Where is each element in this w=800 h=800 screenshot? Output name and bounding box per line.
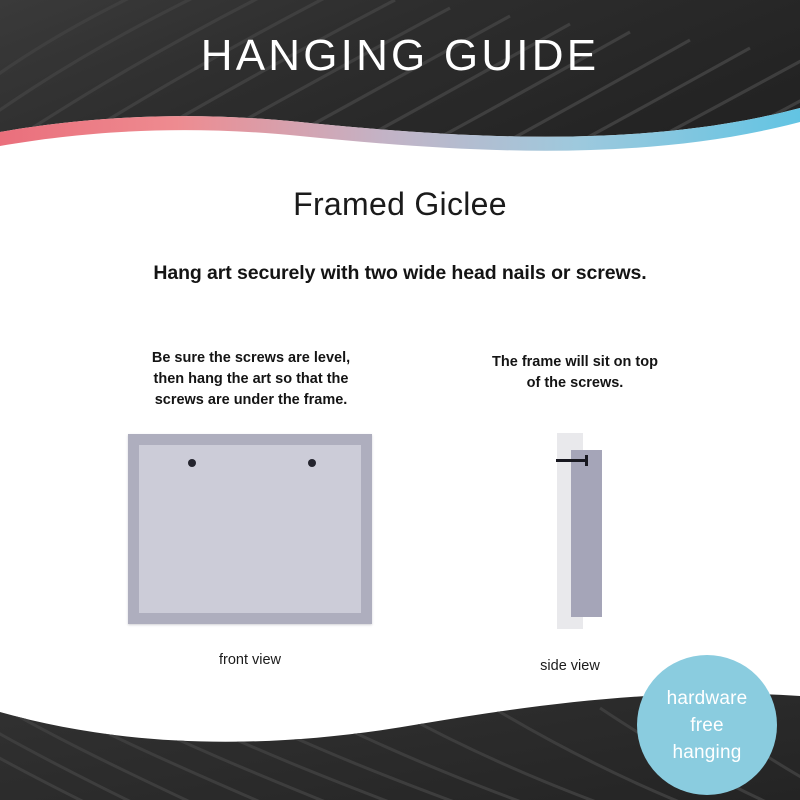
side-view-screw-head-icon bbox=[585, 455, 588, 466]
front-view-caption: Be sure the screws are level, then hang … bbox=[128, 348, 374, 411]
badge-line-3: hanging bbox=[667, 739, 748, 766]
side-view-frame bbox=[571, 450, 602, 617]
side-view-screw-shank-icon bbox=[556, 459, 588, 462]
side-view-caption-line-1: The frame will sit on top bbox=[455, 352, 695, 373]
badge-line-1: hardware bbox=[667, 685, 748, 712]
front-view-screw-left-icon bbox=[188, 459, 196, 467]
front-view-caption-line-1: Be sure the screws are level, bbox=[128, 348, 374, 369]
hardware-free-hanging-badge: hardware free hanging bbox=[637, 655, 777, 795]
page-title: HANGING GUIDE bbox=[0, 31, 800, 81]
side-view-caption-line-2: of the screws. bbox=[455, 373, 695, 394]
front-view-caption-line-3: screws are under the frame. bbox=[128, 390, 374, 411]
front-view-screw-right-icon bbox=[308, 459, 316, 467]
hanging-guide-page: HANGING GUIDE Framed Giclee Hang art sec… bbox=[0, 0, 800, 800]
header-wave-graphic bbox=[0, 0, 800, 165]
front-view-caption-line-2: then hang the art so that the bbox=[128, 369, 374, 390]
badge-line-2: free bbox=[667, 712, 748, 739]
header-banner: HANGING GUIDE bbox=[0, 0, 800, 165]
front-view-frame-interior bbox=[139, 445, 361, 613]
side-view-caption: The frame will sit on top of the screws. bbox=[455, 352, 695, 394]
badge-text: hardware free hanging bbox=[667, 685, 748, 766]
lead-instruction: Hang art securely with two wide head nai… bbox=[0, 262, 800, 285]
product-title: Framed Giclee bbox=[0, 186, 800, 223]
front-view-frame-diagram bbox=[128, 434, 372, 624]
